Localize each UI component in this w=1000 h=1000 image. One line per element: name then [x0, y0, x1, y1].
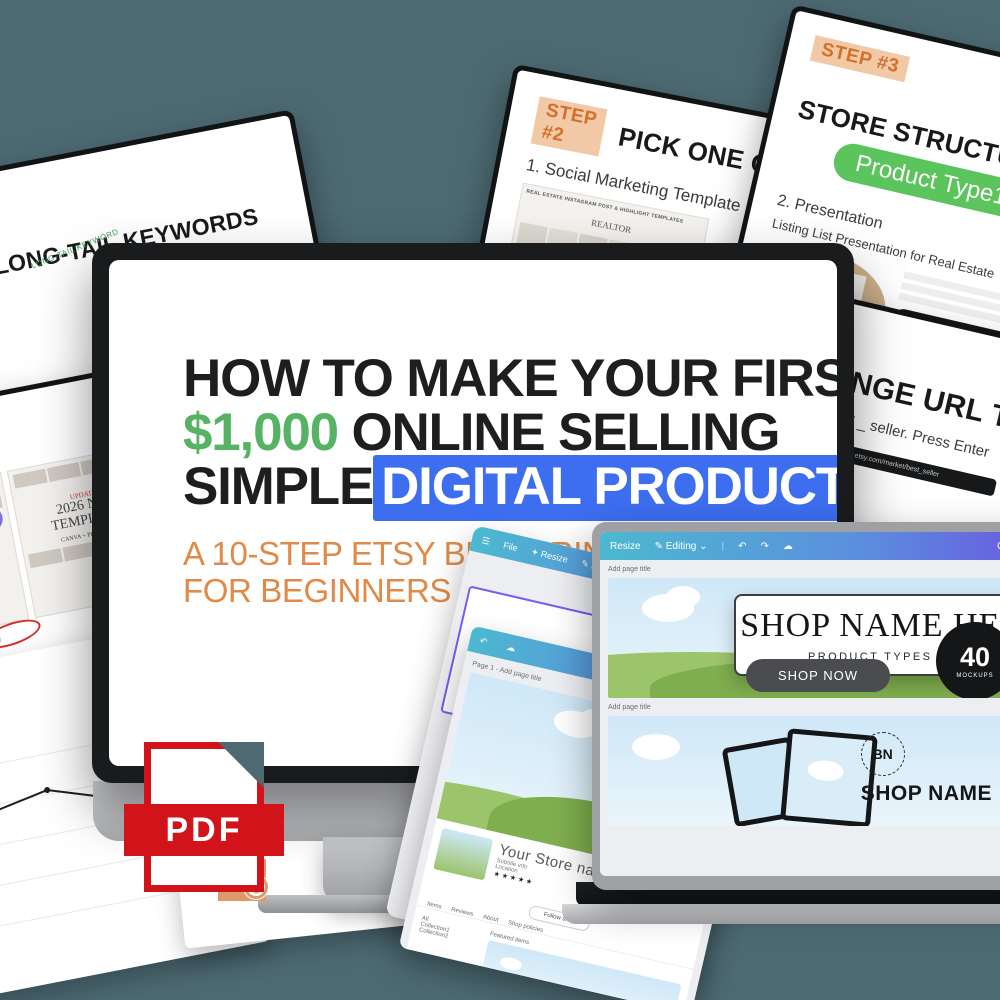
- cloud-saved-icon: ☁: [783, 541, 793, 552]
- pdf-label-band: PDF: [124, 804, 284, 856]
- laptop-screen: Resize ✎ Editing ⌄ | ↶ ↷ ☁ Canva Add pag…: [600, 532, 1000, 876]
- resize-button[interactable]: Resize: [610, 541, 641, 552]
- listing-title-line3: ALL IN ONE: [0, 573, 21, 608]
- headline-amount: $1,000: [183, 403, 338, 462]
- laptop-device[interactable]: Resize ✎ Editing ⌄ | ↶ ↷ ☁ Canva Add pag…: [592, 522, 1000, 942]
- shop-now-button[interactable]: SHOP NOW: [746, 659, 890, 692]
- store-sidebar[interactable]: All Collection1 Collection2: [410, 916, 481, 983]
- canva-page-2[interactable]: BN SHOP NAME: [608, 716, 1000, 826]
- headline-line-2-rest: ONLINE SELLING: [351, 403, 779, 462]
- badge-number: 40: [960, 644, 990, 671]
- cloud-icon: [666, 586, 700, 608]
- brand-stamp: BN: [861, 732, 905, 776]
- cloud-icon: [807, 759, 845, 782]
- canva-page-1[interactable]: SHOP NAME HERE PRODUCT TYPES HERE SHOP N…: [608, 578, 1000, 698]
- headline-line-3: SIMPLEDIGITAL PRODUCTS: [183, 460, 837, 514]
- laptop-deck: [562, 904, 1000, 924]
- pdf-file-icon: PDF: [144, 742, 264, 892]
- headline-line-1: HOW TO MAKE YOUR FIRST: [183, 352, 837, 406]
- file-menu[interactable]: File: [502, 540, 518, 553]
- editing-dropdown[interactable]: ✎ Editing ⌄: [655, 541, 708, 552]
- cloud-icon: [632, 734, 680, 760]
- mockups-count-badge: 40 MOCKUPS: [936, 622, 1000, 698]
- badge-sublabel: MOCKUPS: [956, 673, 993, 679]
- resize-button[interactable]: ✦ Resize: [530, 546, 569, 565]
- undo-icon[interactable]: ↶: [738, 541, 746, 552]
- step-badge-3: STEP #3: [810, 35, 911, 82]
- store-avatar: [433, 828, 493, 881]
- headline-highlight: DIGITAL PRODUCTS: [373, 455, 837, 521]
- canva-canvas-area: Add page title SHOP NAME HERE PRODUCT TY…: [600, 560, 1000, 876]
- undo-icon[interactable]: ↶: [479, 635, 489, 647]
- cloud-icon: [499, 955, 523, 972]
- step-badge-2: STEP #2: [531, 96, 608, 156]
- hamburger-icon[interactable]: ☰: [481, 535, 491, 548]
- redo-icon[interactable]: ↷: [761, 541, 769, 552]
- headline-line-3-prefix: SIMPLE: [183, 457, 373, 516]
- page-title-label-1[interactable]: Add page title: [608, 566, 1000, 573]
- mockup-stage: STEP #4 LONG-TAIL KEYWORDS SEARCH VOLUME: [0, 0, 1000, 1000]
- shop-name-2: SHOP NAME: [861, 782, 992, 806]
- canva-toolbar[interactable]: Resize ✎ Editing ⌄ | ↶ ↷ ☁ Canva: [600, 532, 1000, 560]
- page-title-label-2[interactable]: Add page title: [608, 704, 1000, 711]
- cloud-saved-icon: ☁: [505, 641, 516, 654]
- pdf-label: PDF: [166, 811, 243, 850]
- headline-line-2: $1,000 ONLINE SELLING: [183, 406, 837, 460]
- laptop-lid: Resize ✎ Editing ⌄ | ↶ ↷ ☁ Canva Add pag…: [592, 522, 1000, 890]
